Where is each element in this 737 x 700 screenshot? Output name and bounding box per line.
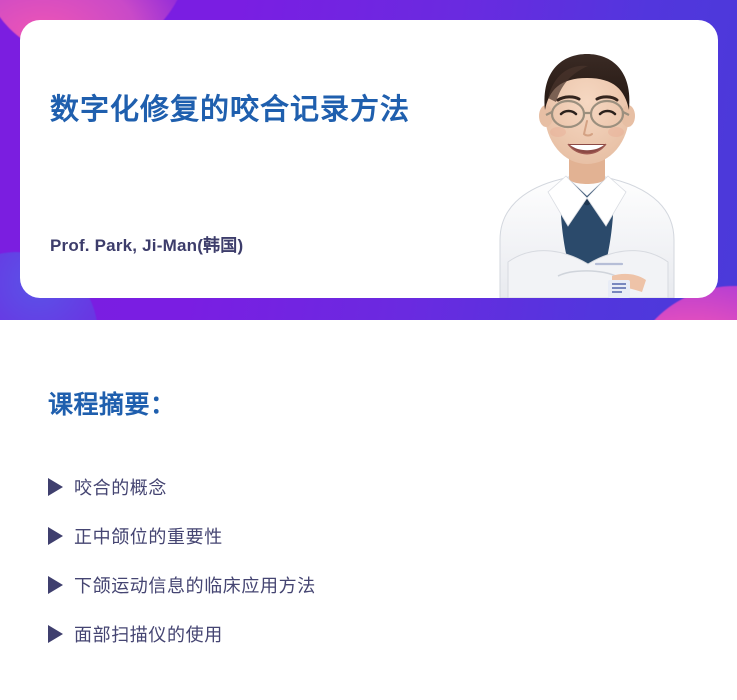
list-item-label: 面部扫描仪的使用 (74, 621, 223, 647)
list-item-label: 正中颌位的重要性 (74, 523, 223, 549)
triangle-bullet-icon (48, 576, 74, 594)
list-item: 下颌运动信息的临床应用方法 (48, 560, 688, 609)
list-item-label: 下颌运动信息的临床应用方法 (74, 572, 316, 598)
course-speaker: Prof. Park, Ji-Man(韩国) (50, 231, 243, 256)
triangle-bullet-icon (48, 478, 74, 496)
summary-heading: 课程摘要： (48, 385, 176, 421)
speaker-portrait (462, 26, 712, 298)
list-item: 咬合的概念 (48, 462, 688, 511)
course-header-card: 数字化修复的咬合记录方法 Prof. Park, Ji-Man(韩国) (20, 20, 718, 298)
hero-banner: 数字化修复的咬合记录方法 Prof. Park, Ji-Man(韩国) (0, 0, 737, 320)
course-summary-section: 课程摘要： 咬合的概念 正中颌位的重要性 下颌运动信息的临床应用方法 面部扫描仪… (0, 320, 737, 700)
list-item-label: 咬合的概念 (74, 474, 167, 500)
list-item: 面部扫描仪的使用 (48, 609, 688, 658)
course-title: 数字化修复的咬合记录方法 (50, 86, 410, 128)
triangle-bullet-icon (48, 625, 74, 643)
triangle-bullet-icon (48, 527, 74, 545)
summary-list: 咬合的概念 正中颌位的重要性 下颌运动信息的临床应用方法 面部扫描仪的使用 (48, 462, 688, 658)
list-item: 正中颌位的重要性 (48, 511, 688, 560)
